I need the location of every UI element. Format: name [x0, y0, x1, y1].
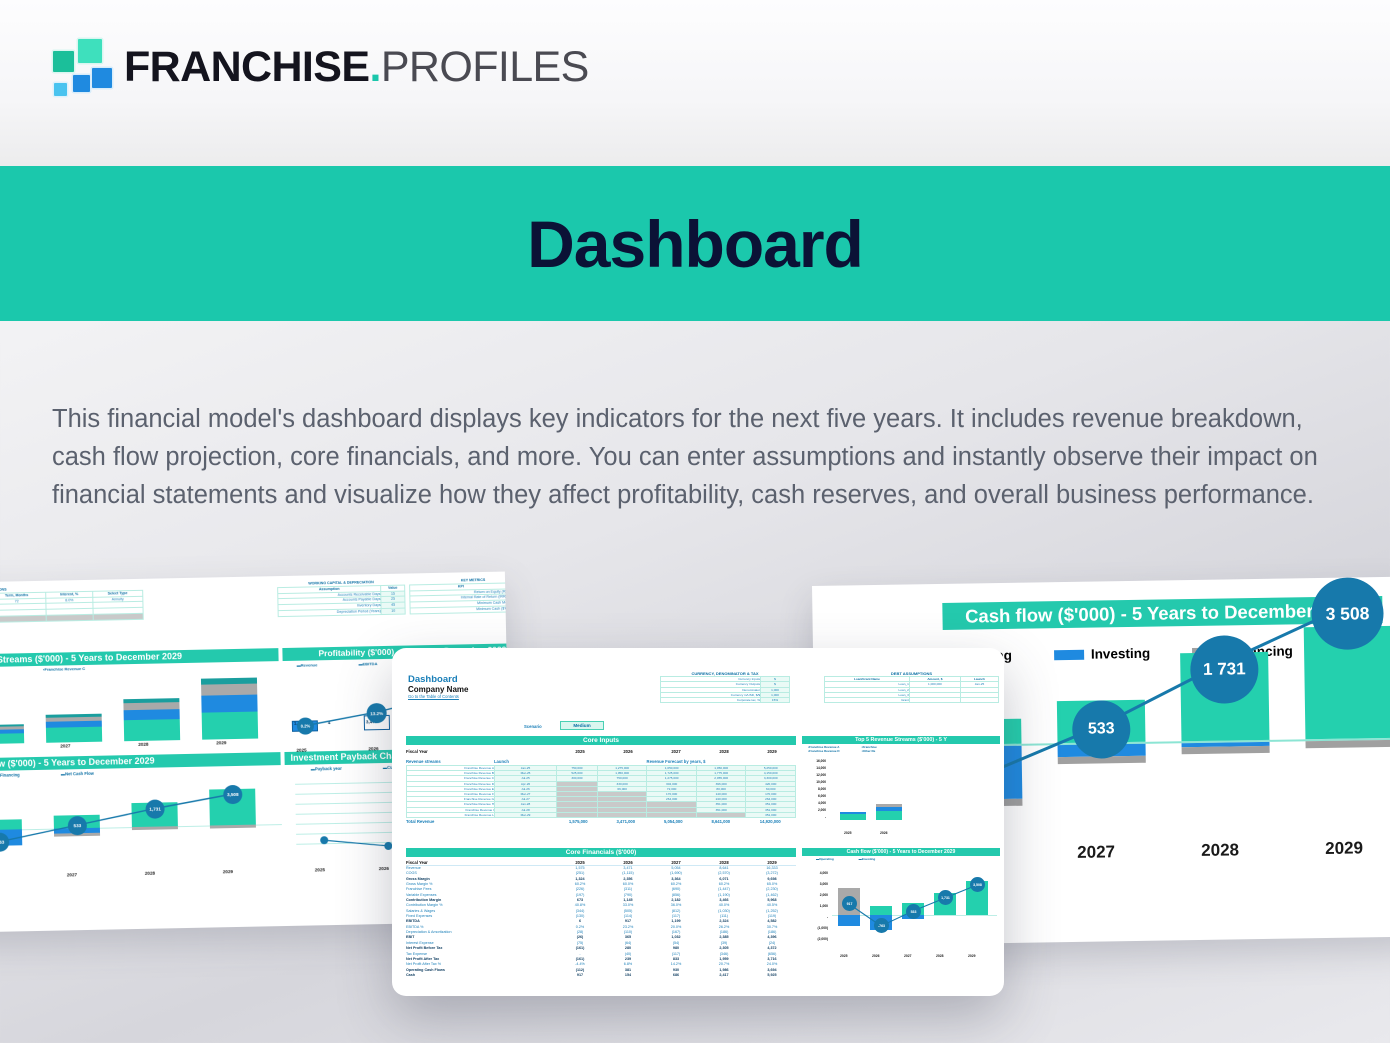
cashflow-bars: 917 -763 533 1,731 3,508 — [0, 778, 282, 860]
year-head: 2026 — [604, 749, 652, 754]
total-label: Total Revenue — [406, 819, 554, 824]
x-tick: 2029 — [216, 740, 226, 745]
cell — [93, 613, 143, 620]
cell[interactable]: 351,000 — [746, 812, 796, 817]
brand-name-bold: FRANCHISE — [124, 43, 369, 91]
row-label: Cash — [406, 973, 556, 978]
x-tick: 2028 — [1201, 840, 1239, 861]
cell: Franchise Revenue L — [407, 812, 495, 817]
legend-item: ▪Franchise Revenue D — [808, 749, 840, 753]
cell[interactable]: Mar-29 — [495, 812, 557, 817]
cf-bubble: 3,508 — [970, 877, 985, 892]
table-row: Franchise Revenue LMar-29351,000 — [407, 812, 796, 817]
page-title: Dashboard — [0, 166, 1390, 321]
cell: Corporate tax, % — [661, 698, 761, 703]
bar-2029-a — [202, 712, 259, 740]
cell: 154 — [604, 973, 652, 978]
x-tick: 2027 — [1077, 842, 1115, 863]
total-cell: 8,641,000 — [697, 819, 745, 824]
x-tick: 2025 — [315, 867, 325, 872]
cashflow-legend: ▬Operating ▬Investing ▬Financing ▬Net Ca… — [0, 771, 94, 781]
table-row: Grant — [825, 698, 999, 703]
x-tick: 2026 — [872, 954, 880, 958]
cell — [909, 698, 960, 703]
table-row: Depreciation Period (Years)10 — [278, 608, 405, 616]
fiscal-year-label: Fiscal Year — [406, 860, 556, 865]
cell — [647, 812, 697, 817]
x-tick: 2028 — [936, 954, 944, 958]
core-financials-rows: Revenue1,5753,4715,0548,64116,333COGS(25… — [406, 866, 796, 978]
legend-item: ▪Franchise Revenue C — [43, 666, 85, 672]
cell[interactable]: 15% — [761, 698, 790, 703]
toc-link[interactable]: Go to the Table of Contents — [408, 694, 468, 699]
year-head: 2026 — [604, 860, 652, 865]
cell: 2,417 — [700, 973, 748, 978]
bar-2027-a — [46, 727, 102, 743]
cf-bubble: 1,731 — [938, 890, 953, 905]
working-capital-table: WORKING CAPITAL & DEPRECIATION Assumptio… — [277, 580, 406, 617]
core-financials-title: Core Financials ($'000) — [406, 848, 796, 857]
legend-item: ▬EBITDA — [358, 661, 377, 666]
cell — [960, 698, 998, 703]
bar-2025-b — [840, 812, 866, 814]
x-tick: 2029 — [968, 954, 976, 958]
total-cell: 5,054,000 — [650, 819, 698, 824]
cell — [0, 615, 47, 622]
x-tick: 2029 — [223, 869, 233, 874]
page-description: This financial model's dashboard display… — [52, 400, 1342, 514]
logo-square-teal-large — [78, 39, 102, 63]
legend-item-investing: Investing — [1054, 646, 1150, 663]
table-row: Corporate tax, %15% — [661, 698, 790, 703]
page-banner: Dashboard — [0, 166, 1390, 321]
brand-dot: . — [369, 43, 380, 91]
logo-square-cyan-small — [54, 83, 67, 96]
left-cashflow-chart: Cash flow ($'000) - 5 Years to December … — [0, 752, 283, 879]
cell: 917 — [556, 973, 604, 978]
bar-2029-c — [201, 684, 257, 696]
fiscal-year-label: Fiscal Year — [406, 749, 556, 754]
bar-2028-c — [123, 702, 179, 710]
bar-2025 — [840, 814, 866, 820]
bar-2026-c — [876, 804, 902, 807]
x-tick: 2027 — [904, 954, 912, 958]
year-head: 2027 — [652, 860, 700, 865]
bar-2027-b — [46, 721, 102, 728]
investing-swatch-icon — [1054, 649, 1084, 659]
core-inputs-title: Core Inputs — [406, 736, 796, 745]
payback-legend: ▬Payback year ▬Cumulat — [311, 765, 404, 772]
profitability-legend: ▬Revenue ▬EBITDA — [297, 661, 406, 668]
legend-item: ▬Net Cash Flow — [61, 771, 94, 777]
cell — [46, 614, 93, 621]
legend-item: ▪Other Re — [862, 749, 876, 753]
brand-name-light: PROFILES — [381, 43, 589, 91]
bar-2029-b — [201, 695, 257, 713]
center-company: Company Name — [408, 685, 468, 694]
cf-chart-title: Cash flow ($'000) - 5 Years to December … — [802, 848, 1000, 856]
cell: Depreciation Period (Years) — [278, 609, 381, 617]
cell: 686 — [652, 973, 700, 978]
logo-square-green — [53, 51, 74, 72]
year-head: 2025 — [556, 749, 604, 754]
center-header: Dashboard Company Name Go to the Table o… — [408, 674, 468, 699]
cell: Grant — [825, 698, 910, 703]
x-tick: 2027 — [67, 872, 77, 877]
center-debt-block: DEBT ASSUMPTIONS Loan/Grant Name Amount,… — [824, 672, 999, 703]
table-row: Minimum Cash ($'000)190.5 — [410, 605, 512, 613]
logo-square-blue-large — [92, 68, 112, 88]
x-tick: 2026 — [379, 866, 389, 871]
legend-item: ▬Operating — [816, 857, 834, 861]
legend-item: ▬Investing — [859, 857, 876, 861]
logo-bar: FRANCHISE.PROFILES — [0, 0, 1390, 166]
table-row: Grant — [0, 613, 143, 625]
cashflow-plot: 4,000 3,000 2,000 1,000 - (1,000) (2,000… — [0, 778, 283, 879]
cf-bubble: 917 — [842, 896, 857, 911]
logo-squares-icon — [52, 38, 110, 96]
forecast-label: Revenue Forecast by years, $ — [556, 759, 796, 764]
cf-chart-legend: ▬Operating ▬Investing — [816, 857, 875, 861]
launch-label: Launch — [494, 759, 556, 764]
year-head: 2028 — [700, 860, 748, 865]
scenario-label: Scenario — [524, 724, 542, 729]
bar-2028-a — [124, 719, 180, 741]
scenario-select[interactable]: Medium — [560, 721, 604, 730]
center-dashboard-panel: Dashboard Company Name Go to the Table o… — [392, 648, 1004, 996]
rev-chart-y-axis: 16,00014,00012,00010,0008,0006,0004,0002… — [804, 758, 826, 821]
x-tick: 2025 — [840, 954, 848, 958]
debt-assumptions-table: DEBT ASSUMPTIONS Loan/Grant Name Amount,… — [0, 585, 144, 626]
core-financials-block: Core Financials ($'000) Fiscal Year 2025… — [406, 848, 796, 978]
cell: Minimum Cash ($'000) — [410, 606, 512, 614]
cf-bubble: 533 — [906, 904, 921, 919]
table-row: Cash9171546862,4175,925 — [406, 973, 796, 978]
year-head: 2029 — [748, 860, 796, 865]
bar-2028-b — [124, 709, 180, 720]
rev-chart-bars — [830, 758, 998, 820]
legend-item: ▬Financing — [0, 772, 20, 777]
rev-chart-title: Top 5 Revenue Streams ($'000) - 5 Y — [802, 736, 1000, 744]
x-tick: 2028 — [138, 742, 148, 747]
revenue-streams-table: Franchise Revenue AJan-25750,0001,275,00… — [406, 765, 796, 818]
x-tick: 2027 — [60, 743, 70, 748]
cell: 10 — [381, 608, 405, 614]
total-cell: 1,575,000 — [554, 819, 602, 824]
cf-bubble: -763 — [874, 918, 889, 933]
revenue-streams-chart: Top 5 Revenue Streams ($'000) - 5 Years … — [0, 648, 280, 757]
cell: 5,925 — [748, 973, 796, 978]
year-head: 2029 — [748, 749, 796, 754]
total-cell: 3,471,000 — [602, 819, 650, 824]
cf-chart-plot: 917 -763 533 1,731 3,508 — [832, 868, 997, 944]
cf-x-axis: 2025 2026 2027 2028 2029 — [0, 868, 283, 876]
revenue-plot-area: 16,000 14,000 12,000 10,000 8,000 6,000 … — [0, 674, 280, 757]
center-title: Dashboard — [408, 674, 468, 685]
section-label: Revenue streams — [406, 759, 494, 764]
currency-block: CURRENCY, DENOMINATOR & TAX Currency Inp… — [660, 672, 790, 703]
bar-2026 — [876, 811, 902, 820]
cf-chart-y-axis: 4,0003,0002,0001,000-(1,000)(2,000) — [804, 868, 828, 945]
legend-item: ▬Revenue — [297, 662, 318, 667]
key-metrics-table: KEY METRICS KPI Value Return on Equity (… — [409, 577, 512, 614]
brand-wordmark: FRANCHISE.PROFILES — [124, 46, 589, 89]
cashflow-title: Cash flow ($'000) - 5 Years to December … — [0, 752, 281, 774]
logo-square-blue-mid — [73, 75, 90, 92]
center-rev-chart: Top 5 Revenue Streams ($'000) - 5 Y ▪Fra… — [802, 736, 1000, 841]
legend-item: ▬Payback year — [311, 766, 342, 772]
rev-chart-legend: ▪Franchise Revenue A▪Franchise ▪Franchis… — [808, 745, 877, 753]
bar-2026-b — [876, 807, 902, 811]
cell — [696, 812, 746, 817]
year-head: 2025 — [556, 860, 604, 865]
x-tick: 2028 — [145, 871, 155, 876]
bar-2026-a — [0, 733, 24, 744]
brand-logo: FRANCHISE.PROFILES — [52, 38, 589, 96]
x-tick: 2029 — [1325, 838, 1363, 859]
total-cell: 14,920,000 — [745, 819, 796, 824]
cell — [557, 812, 598, 817]
bar-2029-d — [201, 678, 257, 685]
center-cf-chart: Cash flow ($'000) - 5 Years to December … — [802, 848, 1000, 966]
revenue-bars — [0, 674, 280, 746]
year-head: 2027 — [652, 749, 700, 754]
cell — [597, 812, 647, 817]
core-inputs-block: Core Inputs Fiscal Year 2025 2026 2027 2… — [406, 736, 796, 824]
year-head: 2028 — [700, 749, 748, 754]
